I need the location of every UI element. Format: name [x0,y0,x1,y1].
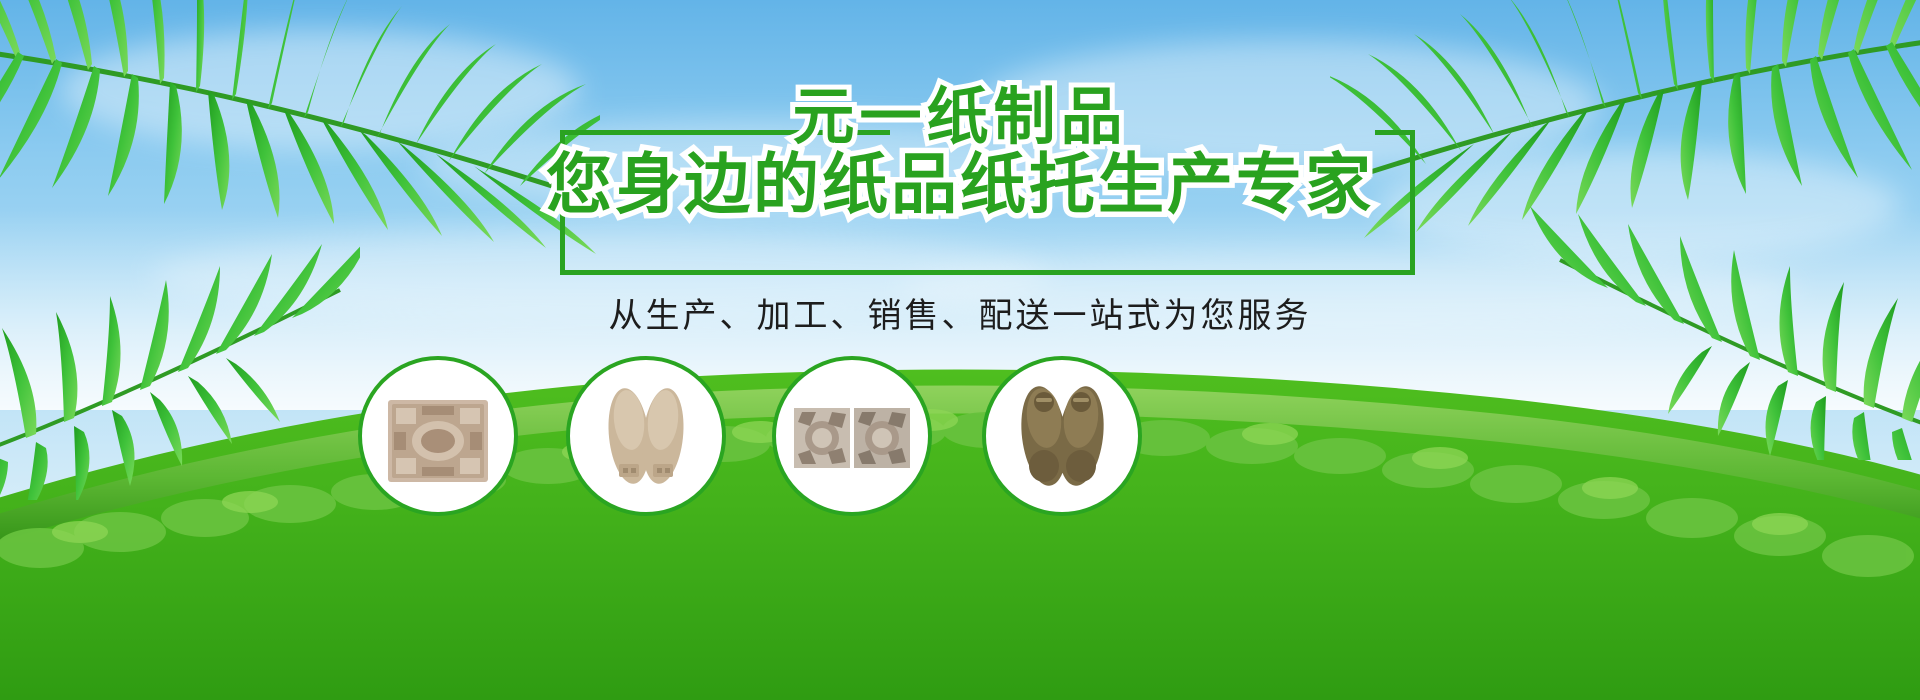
product-circle-3[interactable] [772,356,932,516]
promotional-banner: 元一纸制品 您身边的纸品纸托生产专家 从生产、加工、销售、配送一站式为您服务 [0,0,1920,700]
molded-pulp-shoe-tree-pair-icon [986,360,1138,512]
product-circle-4[interactable] [982,356,1142,516]
product-circle-2[interactable] [566,356,726,516]
molded-pulp-tray-square-icon [362,360,514,512]
product-circle-row [0,0,1920,700]
product-circle-1[interactable] [358,356,518,516]
molded-pulp-tray-pair-icon [776,360,928,512]
molded-pulp-shoe-insert-pair-icon [570,360,722,512]
